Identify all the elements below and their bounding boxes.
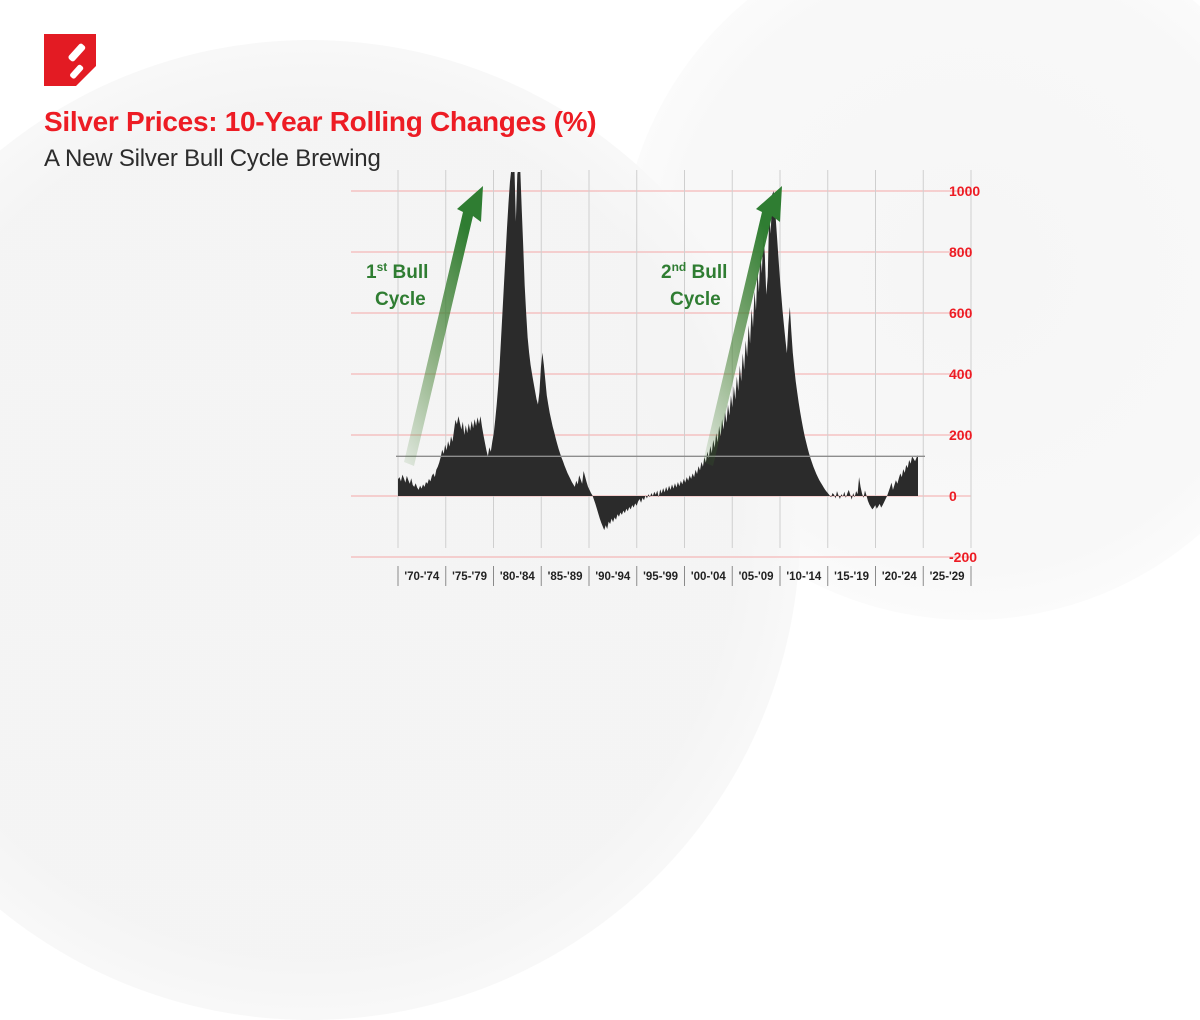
page-subtitle: A New Silver Bull Cycle Brewing [44, 145, 596, 174]
x-band-label-9: '15-'19 [834, 571, 869, 583]
y-tick-0: 0 [949, 488, 957, 504]
x-band-label-0: '70-'74 [404, 571, 439, 583]
second-bull-cycle-line1: 2nd Bull [661, 260, 727, 283]
brand-logo [44, 34, 96, 86]
x-band-label-4: '90-'94 [595, 571, 630, 583]
x-axis-band-labels: '70-'74'75-'79'80-'84'85-'89'90-'94'95-'… [398, 566, 971, 586]
y-tick-800: 800 [949, 244, 973, 260]
y-axis-tick-labels: 10008006004002000-200 [949, 183, 980, 565]
x-band-label-11: '25-'29 [930, 571, 965, 583]
y-tick--200: -200 [949, 549, 977, 565]
second-bull-cycle-line2: Cycle [670, 289, 721, 310]
page-title: Silver Prices: 10-Year Rolling Changes (… [44, 106, 596, 138]
y-tick-600: 600 [949, 305, 973, 321]
header: Silver Prices: 10-Year Rolling Changes (… [44, 34, 596, 174]
x-band-label-1: '75-'79 [452, 571, 487, 583]
y-tick-1000: 1000 [949, 183, 980, 199]
first-bull-cycle-line2: Cycle [375, 289, 426, 310]
y-tick-400: 400 [949, 366, 973, 382]
feedzy-pen-square-icon [44, 34, 96, 86]
y-tick-200: 200 [949, 427, 973, 443]
area-series-silver-rolling-change [398, 165, 918, 530]
x-band-label-3: '85-'89 [548, 571, 583, 583]
x-band-label-6: '00-'04 [691, 571, 726, 583]
up-right-arrow-icon [404, 186, 483, 466]
annotation-first-bull-cycle: 1st Bull Cycle [366, 186, 483, 466]
x-band-label-2: '80-'84 [500, 571, 535, 583]
x-band-label-5: '95-'99 [643, 571, 678, 583]
x-band-label-10: '20-'24 [882, 571, 917, 583]
x-band-label-7: '05-'09 [739, 571, 774, 583]
x-band-label-8: '10-'14 [786, 571, 821, 583]
first-bull-cycle-line1: 1st Bull [366, 260, 428, 283]
